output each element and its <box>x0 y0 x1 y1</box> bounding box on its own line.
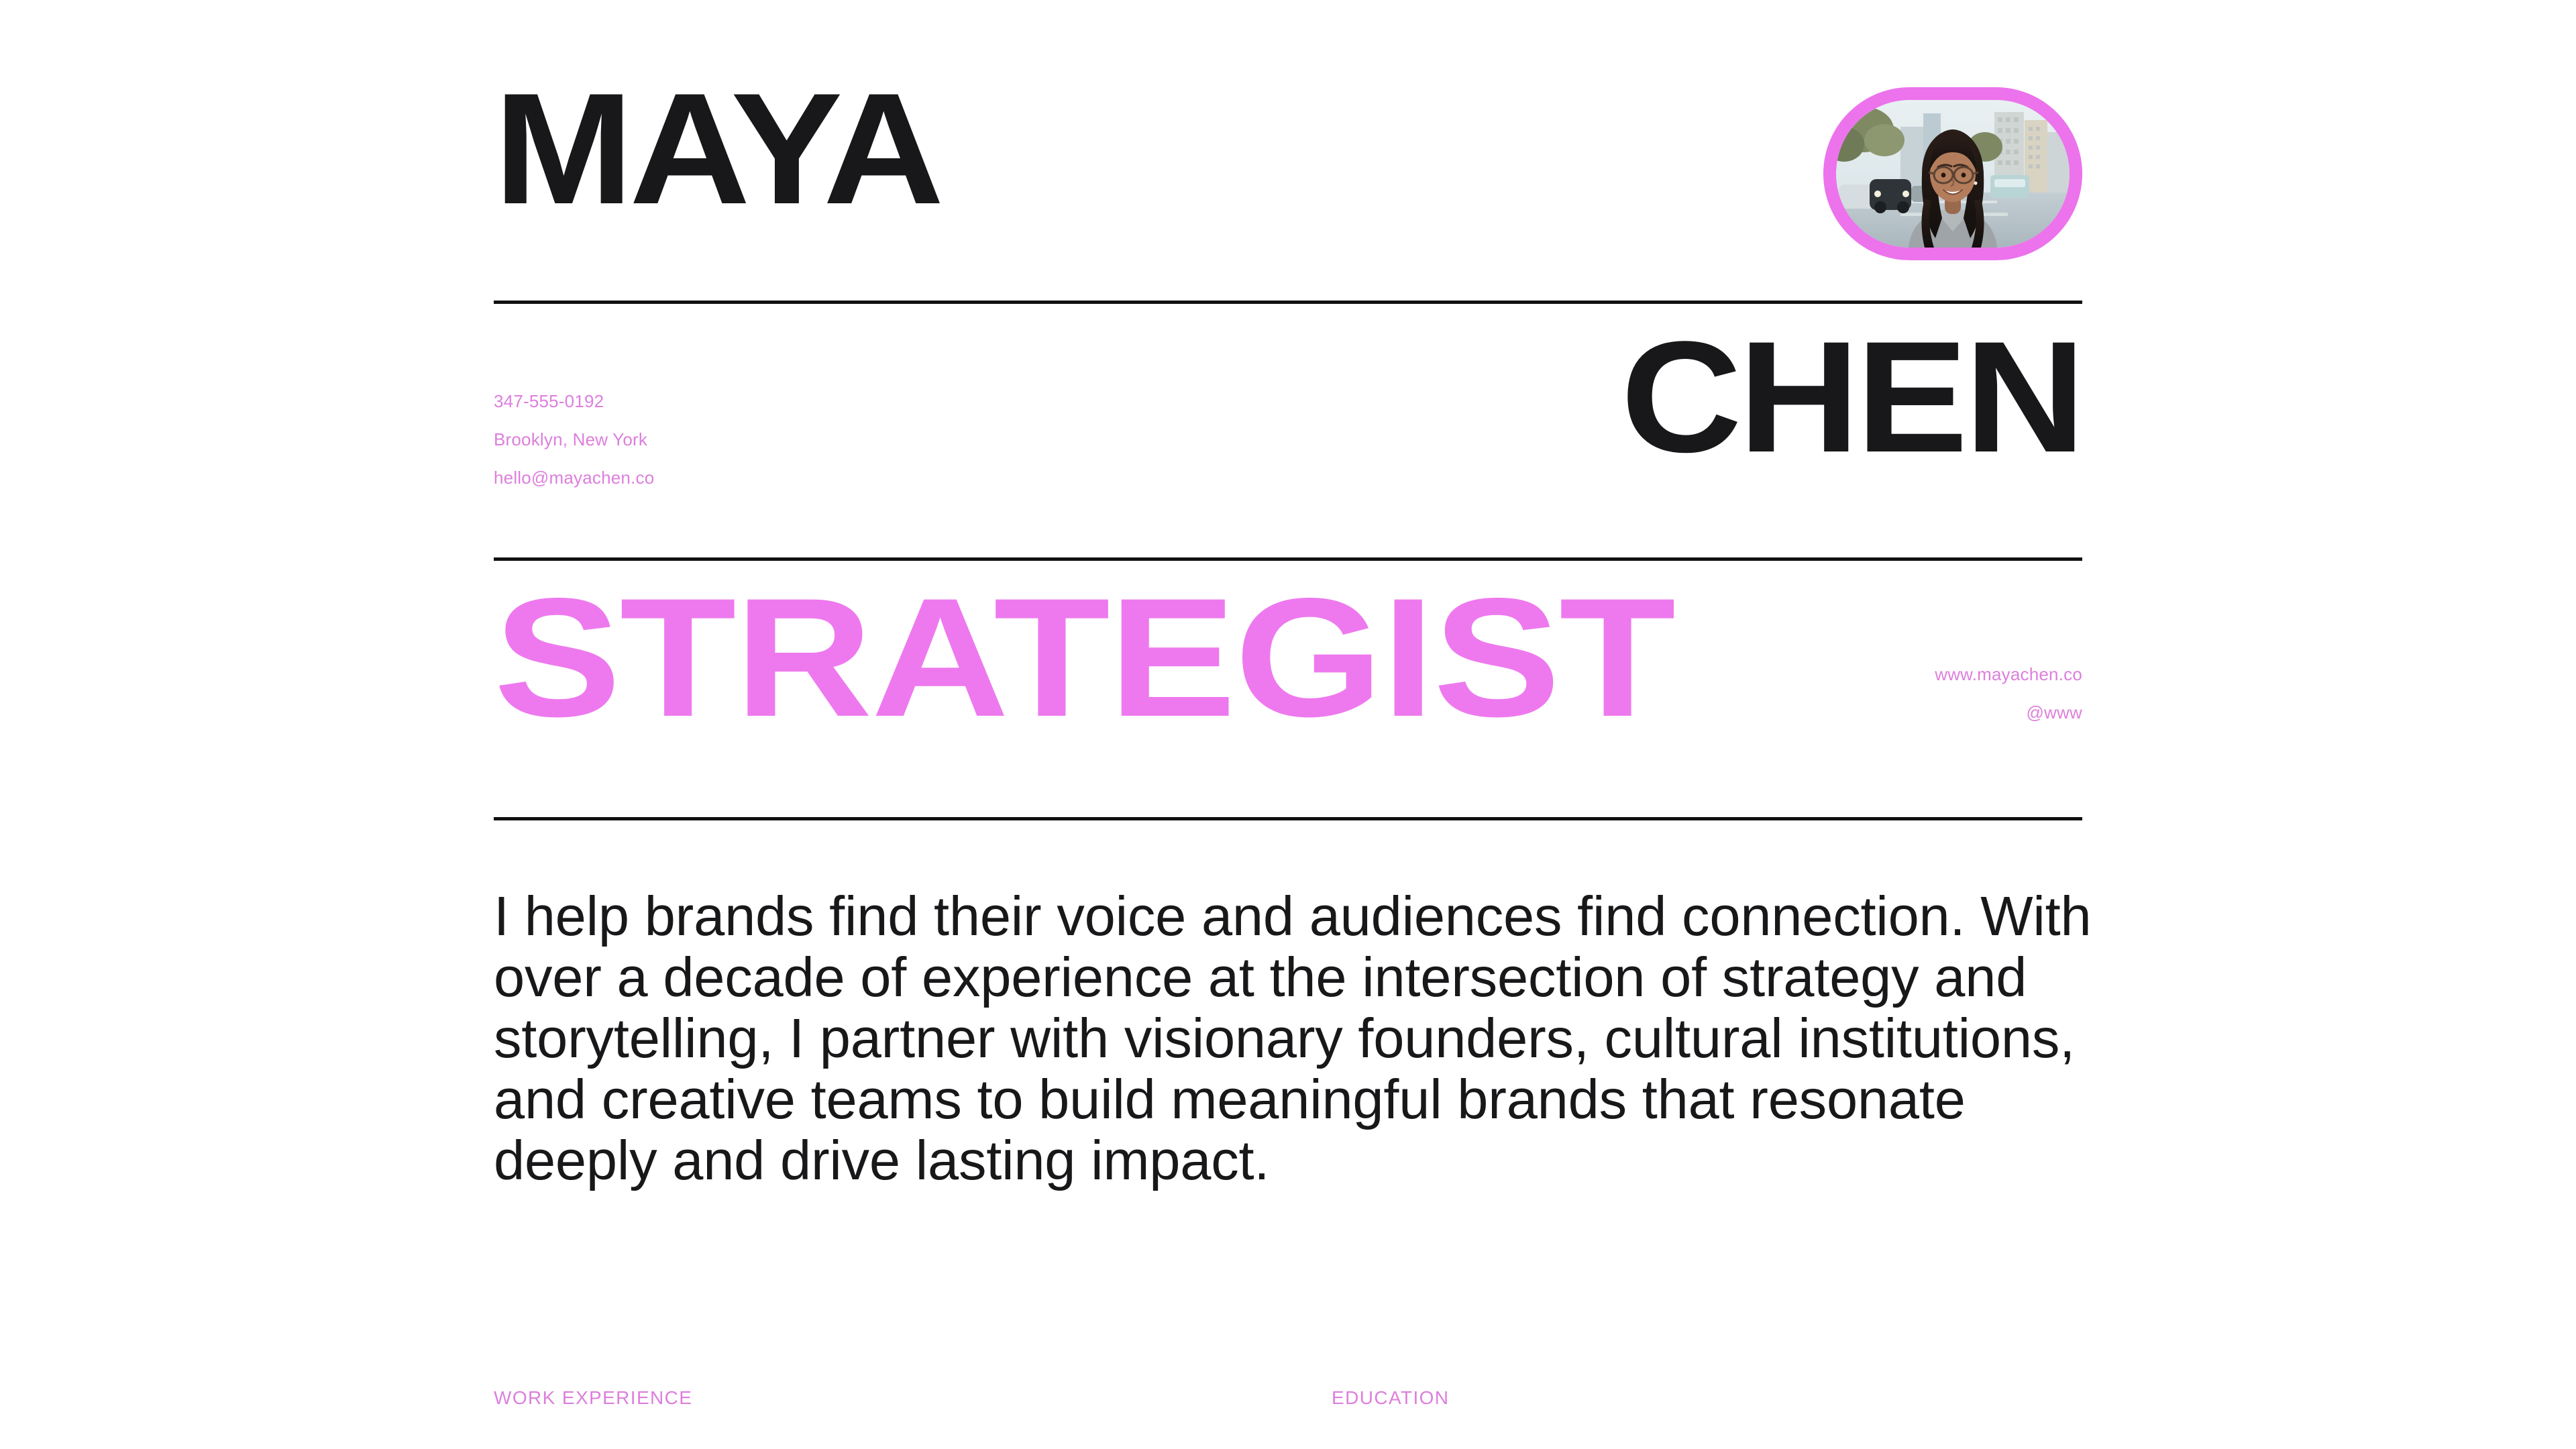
contact-phone[interactable]: 347-555-0192 <box>494 382 654 421</box>
contact-list: 347-555-0192 Brooklyn, New York hello@ma… <box>494 382 654 497</box>
role-row: STRATEGIST www.mayachen.co @www <box>494 574 2082 808</box>
divider-2 <box>494 557 2082 561</box>
section-heading-education: EDUCATION <box>1332 1387 1449 1409</box>
contact-row: 347-555-0192 Brooklyn, New York hello@ma… <box>494 315 2082 550</box>
resume-page: MAYA <box>0 0 2576 1449</box>
link-website[interactable]: www.mayachen.co <box>1935 655 2082 694</box>
divider-3 <box>494 817 2082 820</box>
contact-location: Brooklyn, New York <box>494 421 654 459</box>
avatar <box>1823 87 2082 260</box>
header-row-first-name: MAYA <box>494 75 2082 276</box>
section-heading-work-experience: WORK EXPERIENCE <box>494 1387 692 1409</box>
divider-1 <box>494 301 2082 304</box>
links-list: www.mayachen.co @www <box>1935 655 2082 732</box>
role-title: STRATEGIST <box>494 574 1674 743</box>
contact-email[interactable]: hello@mayachen.co <box>494 459 654 497</box>
section-headings-row: WORK EXPERIENCE EDUCATION <box>494 1387 2082 1449</box>
link-social[interactable]: @www <box>1935 694 2082 732</box>
page-title-last-name: CHEN <box>1621 323 2082 472</box>
bio-paragraph: I help brands find their voice and audie… <box>494 885 2117 1191</box>
page-title-first-name: MAYA <box>494 75 940 224</box>
avatar-photo <box>1836 100 2070 248</box>
resume-content-column: MAYA <box>494 0 2082 1449</box>
